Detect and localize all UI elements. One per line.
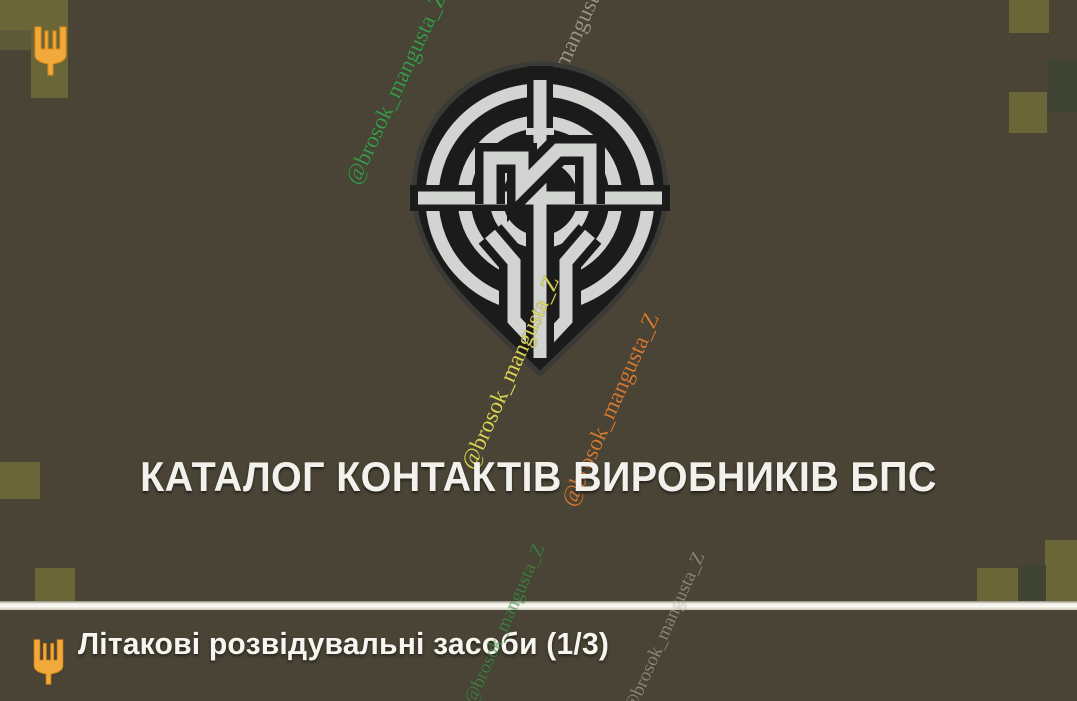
camo-block (35, 568, 75, 602)
slide-canvas: @brosok_mangusta_Z @brosok_mangusta_Z (0, 0, 1077, 701)
trident-icon (33, 25, 68, 77)
section-divider (0, 601, 1077, 610)
camo-block (1018, 565, 1046, 603)
page-title: КАТАЛОГ КОНТАКТІВ ВИРОБНИКІВ БПС (32, 456, 1044, 498)
crosshair-trident-emblem (404, 58, 676, 378)
camo-block (31, 0, 68, 98)
footer-subtitle: Літакові розвідувальні засоби (1/3) (78, 626, 609, 662)
camo-block (1045, 540, 1077, 602)
camo-block (977, 568, 1018, 603)
camo-block (1047, 60, 1077, 112)
camo-block (1009, 0, 1049, 33)
camo-block (0, 0, 31, 30)
camo-block (0, 30, 31, 50)
camo-block (1009, 92, 1047, 133)
